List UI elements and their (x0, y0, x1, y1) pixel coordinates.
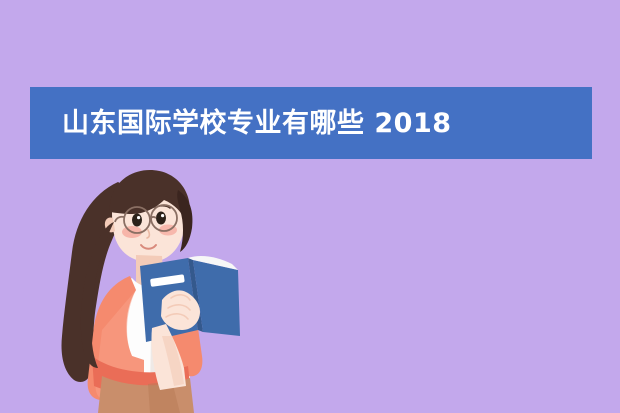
woman-reading-book-illustration (40, 160, 270, 413)
illustration-svg (40, 160, 270, 413)
eye-right (156, 212, 166, 225)
title-banner: 山东国际学校专业有哪些 2018 (30, 87, 592, 159)
eye-left (132, 214, 142, 227)
image-card: 山东国际学校专业有哪些 2018 (0, 0, 620, 413)
eye-right-highlight (161, 214, 164, 217)
page-title: 山东国际学校专业有哪些 2018 (62, 110, 452, 137)
eye-left-highlight (137, 216, 140, 219)
